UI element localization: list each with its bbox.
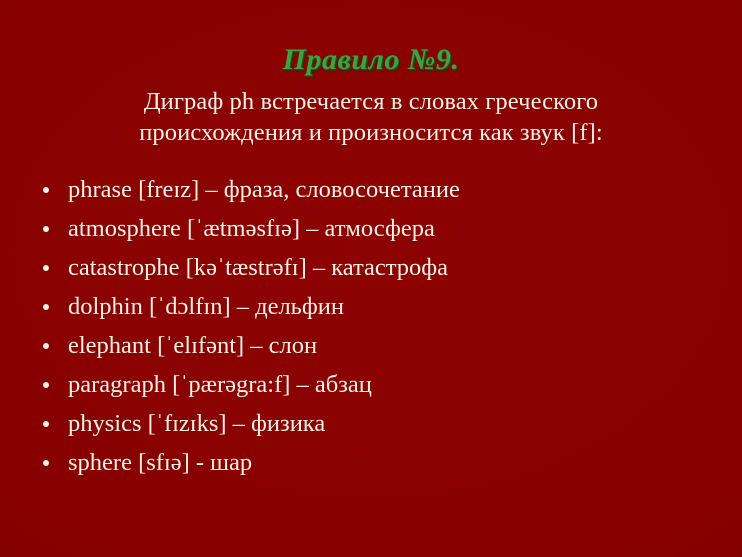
bullet-dot-icon xyxy=(43,382,49,388)
bullet-dot-icon xyxy=(43,226,49,232)
list-item-text: sphere [sfɪə] - шар xyxy=(68,449,252,476)
vocabulary-list: phrase [freɪz] – фраза, словосочетание a… xyxy=(34,170,722,482)
list-item-text: dolphin [ˈdɔlfɪn] – дельфин xyxy=(68,293,344,320)
list-item-text: phrase [freɪz] – фраза, словосочетание xyxy=(68,176,460,203)
list-item: sphere [sfɪə] - шар xyxy=(34,443,722,482)
bullet-dot-icon xyxy=(43,187,49,193)
list-item: elephant [ˈelɪfənt] – слон xyxy=(34,326,722,365)
bullet-dot-icon xyxy=(43,265,49,271)
bullet-dot-icon xyxy=(43,304,49,310)
list-item: atmosphere [ˈætməsfɪə] – атмосфера xyxy=(34,209,722,248)
bullet-dot-icon xyxy=(43,460,49,466)
page-title: Правило №9. xyxy=(283,44,460,76)
bullet-dot-icon xyxy=(43,421,49,427)
list-item-text: catastrophe [kəˈtæstrəfɪ] – катастрофа xyxy=(68,254,448,281)
subtitle-line-2: происхождения и произносится как звук [f… xyxy=(50,117,692,148)
subtitle-line-1: Диграф ph встречается в словах греческог… xyxy=(50,86,692,117)
list-item: phrase [freɪz] – фраза, словосочетание xyxy=(34,170,722,209)
list-item: physics [ˈfɪzɪks] – физика xyxy=(34,404,722,443)
list-item: dolphin [ˈdɔlfɪn] – дельфин xyxy=(34,287,722,326)
list-item-text: elephant [ˈelɪfənt] – слон xyxy=(68,332,317,359)
list-item: paragraph [ˈpærəgra:f] – абзац xyxy=(34,365,722,404)
list-item-text: physics [ˈfɪzɪks] – физика xyxy=(68,410,325,437)
list-item-text: atmosphere [ˈætməsfɪə] – атмосфера xyxy=(68,215,435,242)
subtitle-block: Диграф ph встречается в словах греческог… xyxy=(50,86,692,148)
presentation-slide: Правило №9. Диграф ph встречается в слов… xyxy=(0,0,742,557)
title-block: Правило №9. xyxy=(0,44,742,76)
bullet-dot-icon xyxy=(43,343,49,349)
list-item: catastrophe [kəˈtæstrəfɪ] – катастрофа xyxy=(34,248,722,287)
list-item-text: paragraph [ˈpærəgra:f] – абзац xyxy=(68,371,372,398)
